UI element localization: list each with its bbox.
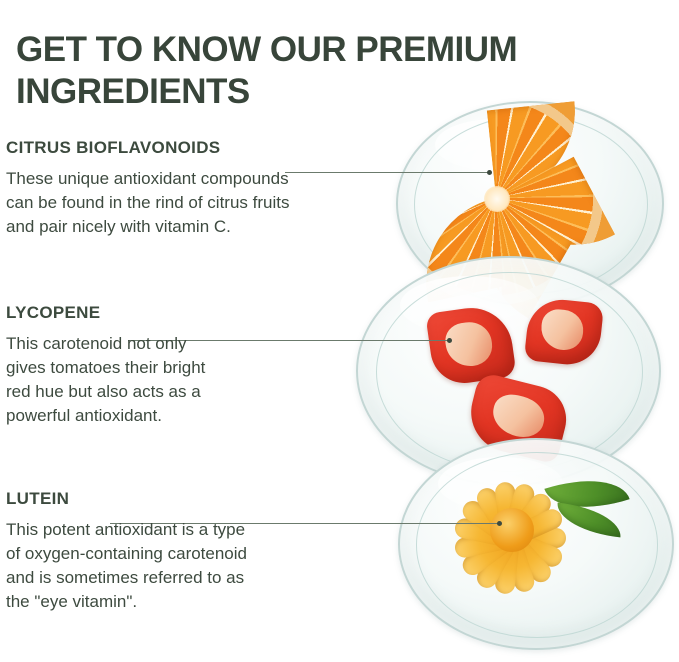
ingredient-block-lutein: LUTEIN This potent antioxidant is a type… — [6, 489, 388, 614]
ingredient-title: CITRUS BIOFLAVONOIDS — [6, 138, 388, 158]
leaf-icon — [555, 503, 624, 538]
ingredients-infographic: GET TO KNOW OUR PREMIUM INGREDIENTS — [0, 0, 679, 662]
leader-dot-lycopene — [447, 338, 452, 343]
tomato-flesh — [488, 390, 548, 441]
ingredient-description: This carotenoid not only gives tomatoes … — [6, 332, 388, 428]
orange-core-highlight — [484, 186, 510, 212]
ingredient-title: LYCOPENE — [6, 303, 388, 323]
ingredient-block-lycopene: LYCOPENE This carotenoid not only gives … — [6, 303, 388, 428]
tomato-flesh — [443, 319, 495, 369]
page-title: GET TO KNOW OUR PREMIUM INGREDIENTS — [16, 29, 656, 113]
ingredient-description: These unique antioxidant compounds can b… — [6, 167, 388, 239]
leader-dot-lutein — [497, 521, 502, 526]
ingredient-description: This potent antioxidant is a type of oxy… — [6, 518, 388, 614]
ingredient-block-citrus: CITRUS BIOFLAVONOIDS These unique antiox… — [6, 138, 388, 239]
flower-center — [490, 508, 534, 552]
leader-dot-citrus — [487, 170, 492, 175]
marigold-illustration — [452, 470, 632, 640]
ingredient-title: LUTEIN — [6, 489, 388, 509]
tomato-flesh — [539, 308, 585, 352]
